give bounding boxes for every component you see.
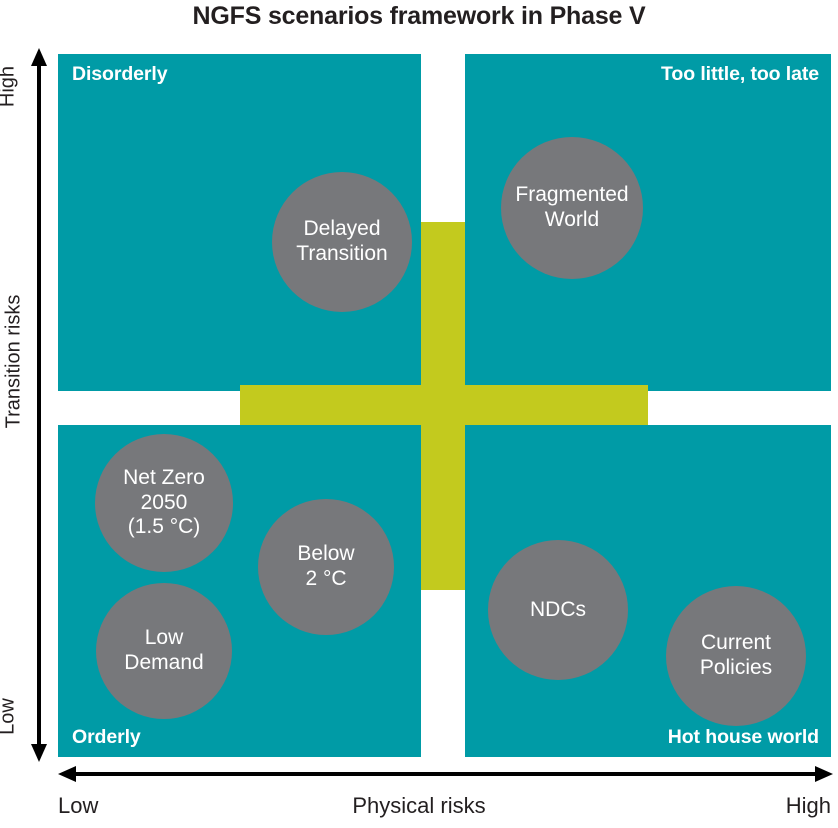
quadrant-label-disorderly: Disorderly (72, 63, 167, 86)
x-axis-arrow-icon (58, 765, 833, 783)
scenario-circle-delayed_transition[interactable]: Delayed Transition (272, 172, 412, 312)
quadrant-label-hot-house-world: Hot house world (668, 726, 819, 749)
y-axis-arrow-icon (30, 48, 48, 762)
scenario-circle-current_policies[interactable]: Current Policies (666, 586, 806, 726)
ngfs-scenarios-framework-figure: NGFS scenarios framework in Phase V Tran… (0, 0, 838, 828)
quadrant-label-too-little-too-late: Too little, too late (661, 63, 819, 86)
scenario-circle-net_zero_2050[interactable]: Net Zero 2050 (1.5 °C) (95, 434, 233, 572)
scenario-circle-label: Current Policies (700, 631, 772, 681)
quadrant-label-orderly: Orderly (72, 726, 141, 749)
y-axis-tick-low: Low (0, 687, 20, 747)
scenario-circle-ndcs[interactable]: NDCs (488, 540, 628, 680)
x-axis-tick-high: High (786, 793, 831, 819)
scenario-circle-label: Fragmented World (515, 183, 628, 233)
scenario-circle-label: NDCs (530, 598, 586, 623)
page-title: NGFS scenarios framework in Phase V (0, 2, 838, 31)
x-axis-title: Physical risks (0, 793, 838, 819)
y-axis-tick-high: High (0, 57, 20, 117)
scenario-circle-label: Delayed Transition (296, 217, 387, 267)
scenario-circle-below_2c[interactable]: Below 2 °C (258, 499, 394, 635)
scenario-circle-label: Net Zero 2050 (1.5 °C) (123, 466, 205, 540)
scenario-circle-low_demand[interactable]: Low Demand (96, 583, 232, 719)
y-axis-title: Transition risks (3, 272, 26, 452)
scenario-circle-label: Low Demand (124, 626, 203, 676)
scenario-circle-fragmented_world[interactable]: Fragmented World (501, 137, 643, 279)
scenario-circle-label: Below 2 °C (297, 542, 354, 592)
cross-divider-horizontal (240, 385, 648, 425)
plot-area: Disorderly Too little, too late Orderly … (58, 54, 831, 757)
